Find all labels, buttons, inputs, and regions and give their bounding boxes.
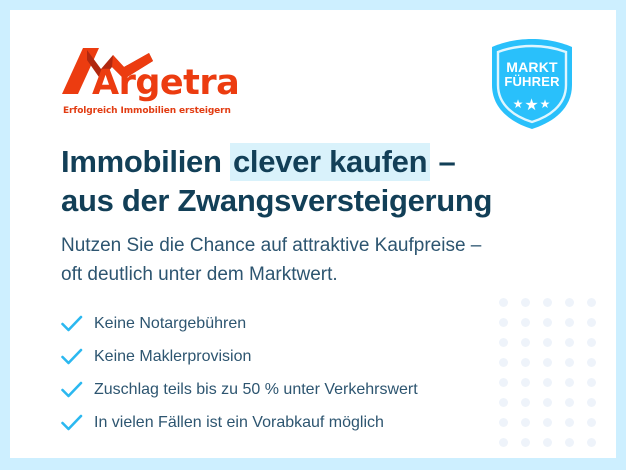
star-left-icon: ★	[513, 97, 525, 111]
benefit-label: Keine Maklerprovision	[94, 349, 251, 365]
subheadline-line-1: Nutzen Sie die Chance auf attraktive Kau…	[61, 235, 481, 256]
check-icon	[61, 414, 83, 432]
list-item: Zuschlag teils bis zu 50 % unter Verkehr…	[61, 375, 418, 405]
dot	[565, 318, 574, 327]
dot-grid-decoration	[492, 292, 602, 452]
dot	[499, 398, 508, 407]
headline-text-after: –	[430, 144, 455, 179]
dot	[521, 338, 530, 347]
dot	[587, 318, 596, 327]
dot	[587, 378, 596, 387]
dot	[543, 298, 552, 307]
dot	[521, 298, 530, 307]
argetra-logo[interactable]: Argetra Erfolgreich Immobilien ersteiger…	[61, 48, 241, 116]
dot	[587, 398, 596, 407]
dot	[499, 378, 508, 387]
headline-text-before: Immobilien	[61, 144, 230, 179]
dot	[565, 398, 574, 407]
dot	[521, 378, 530, 387]
subheadline-line-2: oft deutlich unter dem Marktwert.	[61, 264, 338, 285]
dot	[587, 338, 596, 347]
dot	[565, 358, 574, 367]
dot	[565, 298, 574, 307]
benefits-list: Keine Notargebühren Keine Maklerprovisio…	[61, 309, 418, 441]
logo-wordmark: Argetra	[92, 66, 239, 101]
dot	[543, 378, 552, 387]
dot	[499, 418, 508, 427]
headline-highlight: clever kaufen	[230, 143, 430, 181]
dot	[587, 438, 596, 447]
benefit-label: In vielen Fällen ist ein Vorabkauf mögli…	[94, 415, 384, 431]
dot	[543, 418, 552, 427]
dot	[543, 438, 552, 447]
banner-canvas: Argetra Erfolgreich Immobilien ersteiger…	[10, 10, 616, 458]
dot	[543, 398, 552, 407]
dot	[521, 318, 530, 327]
dot	[499, 338, 508, 347]
star-right-icon: ★	[540, 97, 552, 111]
dot	[543, 318, 552, 327]
dot	[543, 338, 552, 347]
list-item: Keine Notargebühren	[61, 309, 418, 339]
dot	[565, 338, 574, 347]
badge-label: MARKT FÜHRER	[489, 60, 575, 89]
dot	[587, 418, 596, 427]
benefit-label: Zuschlag teils bis zu 50 % unter Verkehr…	[94, 382, 418, 398]
market-leader-badge: MARKT FÜHRER ★★★	[489, 38, 575, 130]
headline-line-1: Immobilien clever kaufen –	[61, 143, 456, 181]
dot	[587, 298, 596, 307]
subheadline: Nutzen Sie die Chance auf attraktive Kau…	[61, 232, 481, 289]
dot	[499, 358, 508, 367]
badge-line-1: MARKT	[489, 60, 575, 75]
dot	[499, 318, 508, 327]
check-icon	[61, 315, 83, 333]
check-icon	[61, 348, 83, 366]
dot	[521, 418, 530, 427]
dot	[521, 398, 530, 407]
star-center-icon: ★	[524, 97, 539, 114]
badge-stars-icon: ★★★	[489, 98, 575, 114]
dot	[521, 358, 530, 367]
headline: Immobilien clever kaufen – aus der Zwang…	[61, 143, 492, 221]
headline-line-2: aus der Zwangsversteigerung	[61, 183, 492, 218]
list-item: Keine Maklerprovision	[61, 342, 418, 372]
dot	[565, 378, 574, 387]
logo-tagline: Erfolgreich Immobilien ersteigern	[63, 106, 231, 116]
dot	[499, 298, 508, 307]
list-item: In vielen Fällen ist ein Vorabkauf mögli…	[61, 408, 418, 438]
dot	[587, 358, 596, 367]
promo-banner: Argetra Erfolgreich Immobilien ersteiger…	[0, 0, 626, 470]
check-icon	[61, 381, 83, 399]
dot	[499, 438, 508, 447]
dot	[565, 438, 574, 447]
dot	[565, 418, 574, 427]
badge-line-2: FÜHRER	[489, 75, 575, 89]
benefit-label: Keine Notargebühren	[94, 316, 246, 332]
dot	[543, 358, 552, 367]
dot	[521, 438, 530, 447]
